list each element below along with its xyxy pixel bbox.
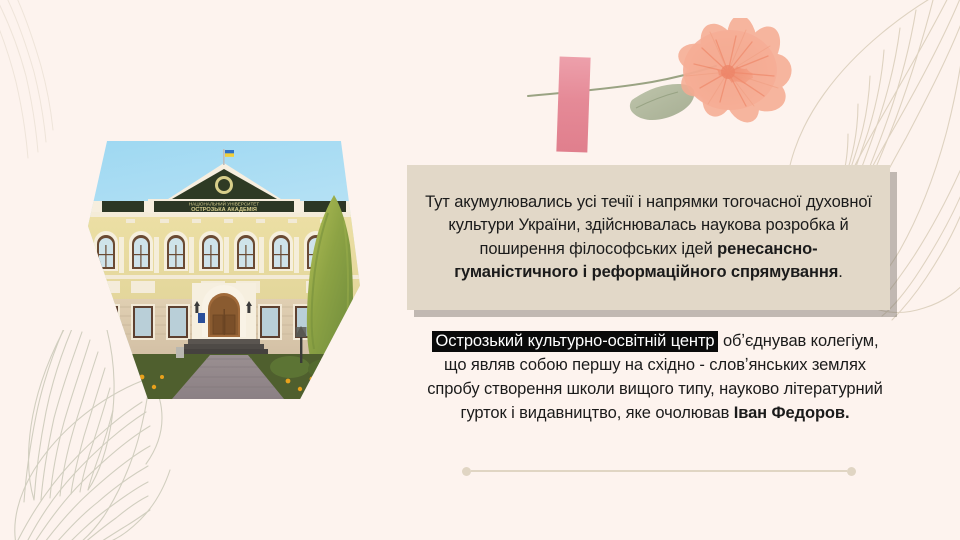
svg-text:НАЦІОНАЛЬНИЙ УНІВЕРСИТЕТ: НАЦІОНАЛЬНИЙ УНІВЕРСИТЕТ — [189, 200, 259, 207]
svg-text:ОСТРОЗЬКА АКАДЕМІЯ: ОСТРОЗЬКА АКАДЕМІЯ — [191, 207, 257, 213]
highlighted-term: Острозький культурно-освітній центр — [432, 331, 719, 352]
callout-text: Тут акумулювались усі течії і напрямки т… — [423, 191, 874, 285]
body-paragraph: Острозький культурно-освітній центр обʼє… — [420, 330, 890, 426]
slide-canvas: НАЦІОНАЛЬНИЙ УНІВЕРСИТЕТ ОСТРОЗЬКА АКАДЕ… — [0, 0, 960, 540]
section-divider — [462, 466, 856, 476]
divider-dot-right — [847, 467, 856, 476]
divider-dot-left — [462, 467, 471, 476]
divider-rule — [471, 470, 847, 472]
watercolor-flower-icon — [520, 18, 805, 158]
callout-card: Тут акумулювались усі течії і напрямки т… — [407, 165, 890, 310]
body-bold-name: Іван Федоров. — [734, 404, 850, 422]
callout-text-tail: . — [838, 263, 842, 281]
body-text-block: Острозький культурно-освітній центр обʼє… — [420, 330, 890, 426]
line-art-leaf-icon — [0, 0, 106, 174]
ostroh-academy-building-photo: НАЦІОНАЛЬНИЙ УНІВЕРСИТЕТ ОСТРОЗЬКА АКАДЕ… — [88, 141, 360, 399]
